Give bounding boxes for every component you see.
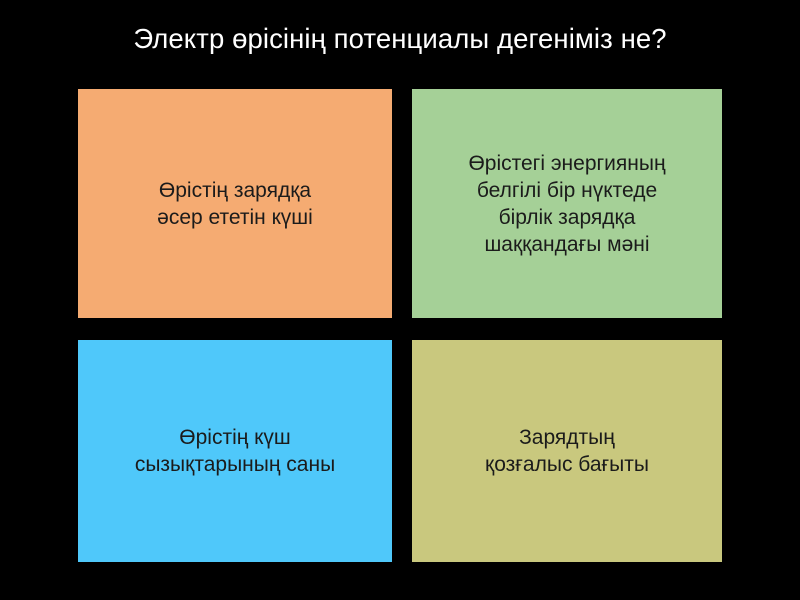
page-title: Электр өрісінің потенциалы дегеніміз не?	[0, 22, 800, 56]
answer-option-c-label: Өрістің күш сызықтарының саны	[135, 424, 335, 478]
answer-option-a-label: Өрістің зарядқа әсер ететін күші	[157, 177, 313, 231]
answer-option-d-label: Зарядтың қозғалыс бағыты	[485, 424, 649, 478]
quiz-slide: Электр өрісінің потенциалы дегеніміз не?…	[0, 0, 800, 600]
answer-option-a[interactable]: Өрістің зарядқа әсер ететін күші	[78, 89, 392, 318]
answer-options-grid: Өрістің зарядқа әсер ететін күші Өрістег…	[78, 89, 722, 562]
answer-option-b[interactable]: Өрістегі энергияның белгілі бір нүктеде …	[412, 89, 722, 318]
answer-option-c[interactable]: Өрістің күш сызықтарының саны	[78, 340, 392, 562]
answer-option-d[interactable]: Зарядтың қозғалыс бағыты	[412, 340, 722, 562]
answer-option-b-label: Өрістегі энергияның белгілі бір нүктеде …	[468, 150, 665, 258]
